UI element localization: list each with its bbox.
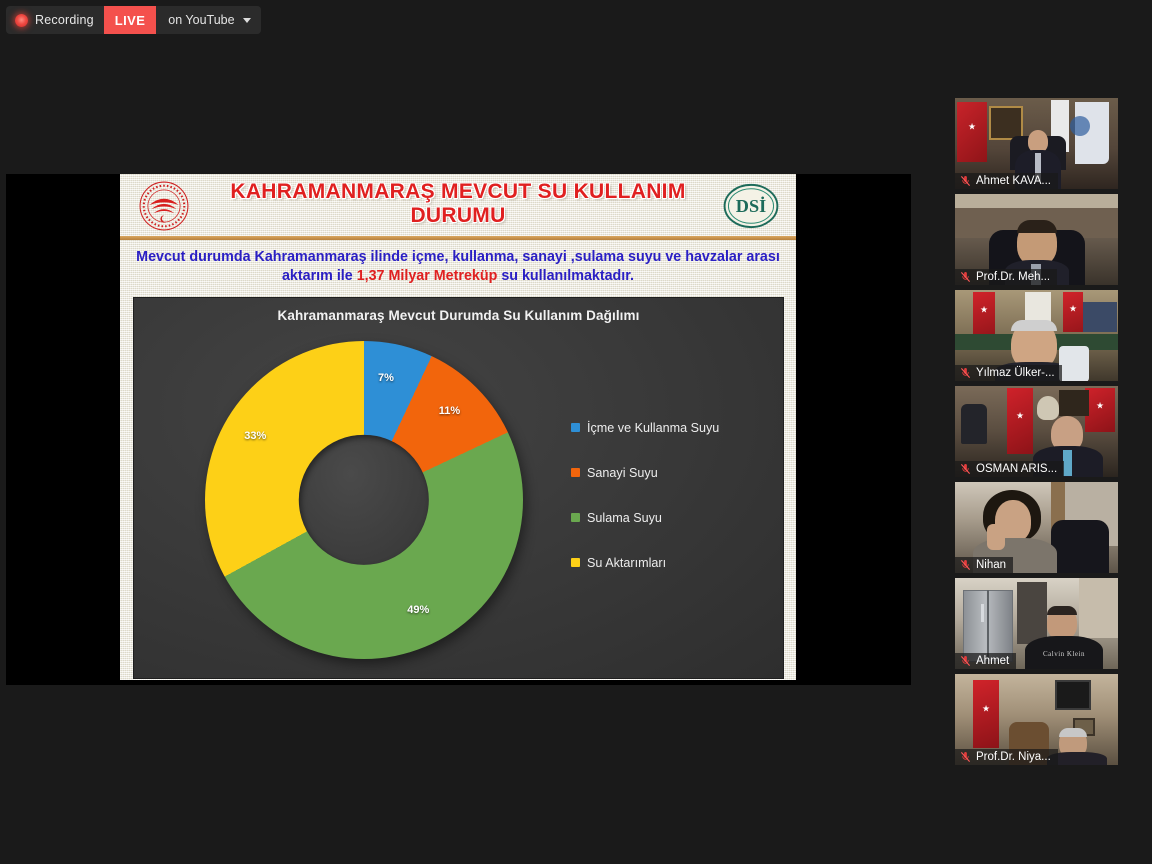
- subtitle-highlight: 1,37 Milyar Metreküp: [357, 268, 498, 284]
- participant-name: Ahmet KAVA...: [976, 175, 1051, 187]
- mic-muted-icon: [960, 655, 971, 667]
- slide-title: KAHRAMANMARAŞ MEVCUT SU KULLANIM DURUMU: [200, 180, 716, 228]
- participant-name-badge: Prof.Dr. Niya...: [955, 749, 1058, 765]
- slide-subtitle: Mevcut durumda Kahramanmaraş ilinde içme…: [120, 240, 796, 293]
- participant-name: Prof.Dr. Meh...: [976, 271, 1050, 283]
- participant-name: OSMAN ARIS...: [976, 463, 1057, 475]
- mic-muted-icon: [960, 175, 971, 187]
- chart-legend: İçme ve Kullanma Suyu Sanayi Suyu Sulama…: [571, 405, 771, 585]
- legend-label-3: Su Aktarımları: [587, 556, 666, 570]
- streaming-platform-selector[interactable]: on YouTube: [156, 6, 260, 34]
- mic-muted-icon: [960, 559, 971, 571]
- participant-name: Nihan: [976, 559, 1006, 571]
- participant-name-badge: Prof.Dr. Meh...: [955, 269, 1057, 285]
- record-dot-icon: [15, 14, 28, 27]
- chart-panel: Kahramanmaraş Mevcut Durumda Su Kullanım…: [133, 297, 784, 679]
- mic-muted-icon: [960, 367, 971, 379]
- slide-header: KAHRAMANMARAŞ MEVCUT SU KULLANIM DURUMU …: [120, 174, 796, 236]
- legend-item: Sulama Suyu: [571, 495, 771, 540]
- participant-name: Yılmaz Ülker-...: [976, 367, 1055, 379]
- chevron-down-icon[interactable]: [243, 18, 251, 23]
- participant-tile[interactable]: Prof.Dr. Niya...: [955, 674, 1118, 765]
- recording-status-bar: Recording LIVE on YouTube: [6, 6, 261, 34]
- participant-name-badge: Ahmet KAVA...: [955, 173, 1058, 189]
- slice-label-0: 7%: [378, 372, 394, 384]
- slice-label-2: 49%: [407, 604, 429, 616]
- dsi-logo-icon: DSİ: [722, 182, 780, 230]
- mic-muted-icon: [960, 751, 971, 763]
- participant-tile[interactable]: Calvin Klein Ahmet: [955, 578, 1118, 669]
- participant-name: Prof.Dr. Niya...: [976, 751, 1051, 763]
- participant-name-badge: OSMAN ARIS...: [955, 461, 1064, 477]
- legend-swatch-3: [571, 558, 580, 567]
- legend-label-0: İçme ve Kullanma Suyu: [587, 421, 719, 435]
- participant-name: Ahmet: [976, 655, 1009, 667]
- participant-tile[interactable]: Ahmet KAVA...: [955, 98, 1118, 189]
- slice-label-3: 33%: [244, 430, 266, 442]
- legend-swatch-1: [571, 468, 580, 477]
- participant-tile[interactable]: OSMAN ARIS...: [955, 386, 1118, 477]
- turkish-ministry-emblem-icon: [138, 180, 190, 232]
- live-badge: LIVE: [104, 6, 157, 34]
- presentation-slide: KAHRAMANMARAŞ MEVCUT SU KULLANIM DURUMU …: [120, 174, 796, 680]
- donut-center-hole: [299, 435, 429, 565]
- participant-tile[interactable]: Yılmaz Ülker-...: [955, 290, 1118, 381]
- mic-muted-icon: [960, 463, 971, 475]
- participant-tile[interactable]: Nihan: [955, 482, 1118, 573]
- shared-screen-canvas[interactable]: KAHRAMANMARAŞ MEVCUT SU KULLANIM DURUMU …: [6, 174, 911, 685]
- platform-label: on YouTube: [168, 13, 234, 27]
- slice-label-1: 11%: [439, 405, 460, 417]
- legend-item: İçme ve Kullanma Suyu: [571, 405, 771, 450]
- legend-item: Sanayi Suyu: [571, 450, 771, 495]
- legend-label-1: Sanayi Suyu: [587, 466, 658, 480]
- legend-swatch-0: [571, 423, 580, 432]
- legend-swatch-2: [571, 513, 580, 522]
- chart-title: Kahramanmaraş Mevcut Durumda Su Kullanım…: [133, 297, 784, 323]
- donut-chart: 7% 11% 49% 33%: [205, 341, 523, 659]
- participant-strip[interactable]: Ahmet KAVA... Prof.Dr. Meh...: [955, 98, 1118, 770]
- participant-name-badge: Nihan: [955, 557, 1013, 573]
- mic-muted-icon: [960, 271, 971, 283]
- legend-label-2: Sulama Suyu: [587, 511, 662, 525]
- subtitle-text-2: su kullanılmaktadır.: [497, 268, 634, 284]
- participant-name-badge: Yılmaz Ülker-...: [955, 365, 1062, 381]
- svg-text:DSİ: DSİ: [736, 196, 766, 216]
- legend-item: Su Aktarımları: [571, 540, 771, 585]
- participant-name-badge: Ahmet: [955, 653, 1016, 669]
- participant-tile[interactable]: Prof.Dr. Meh...: [955, 194, 1118, 285]
- recording-label: Recording: [35, 13, 94, 27]
- recording-indicator-group: Recording: [6, 6, 104, 34]
